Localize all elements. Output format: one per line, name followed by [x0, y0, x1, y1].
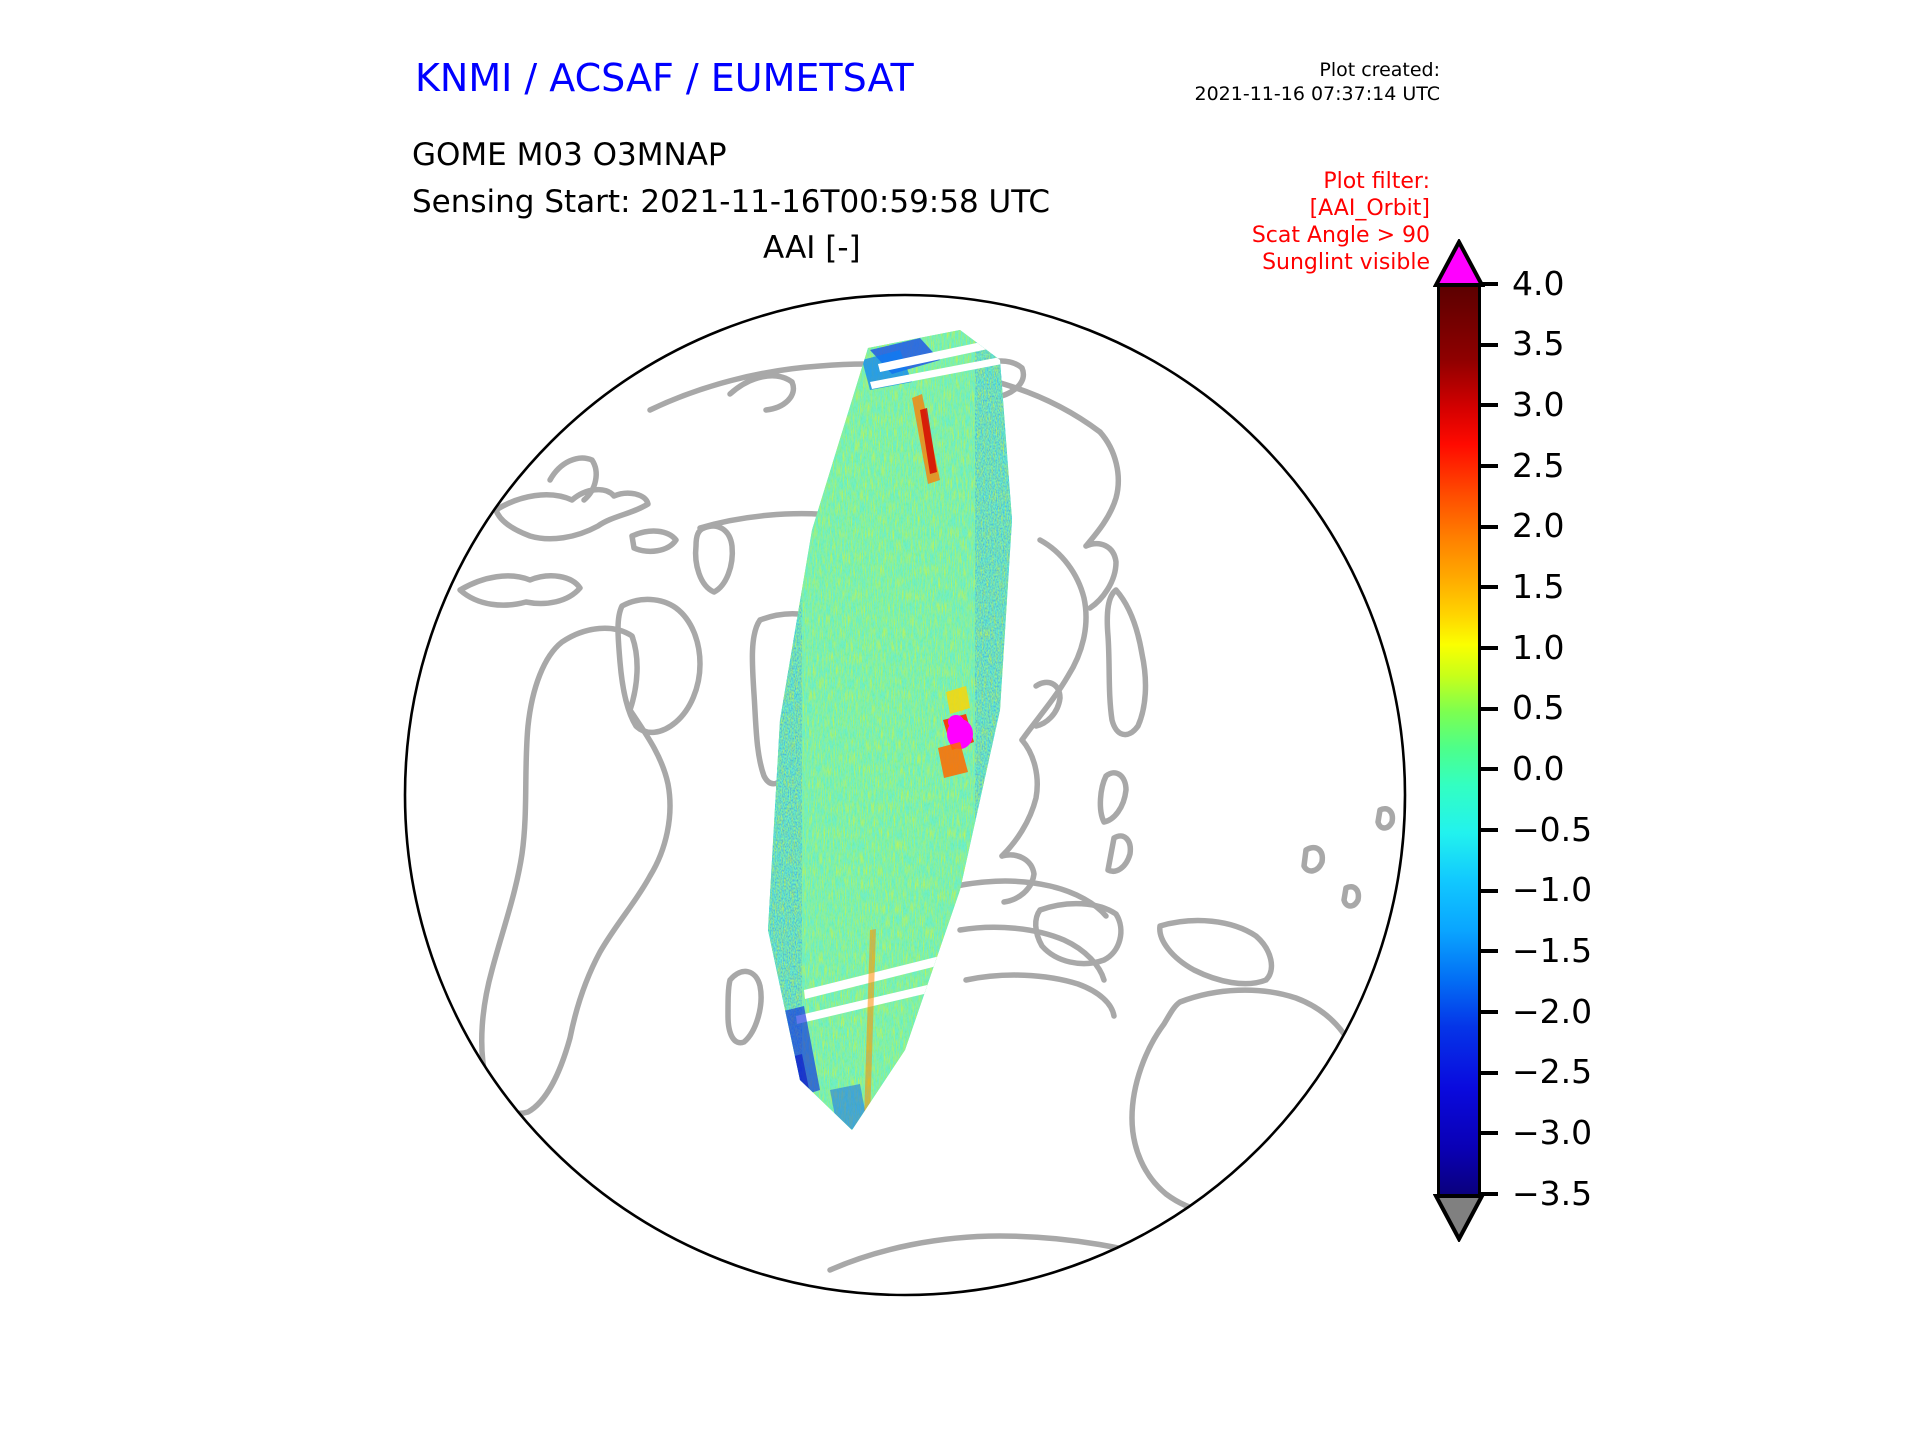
- tick-label: −1.0: [1512, 873, 1592, 906]
- tick-label: 4.0: [1512, 267, 1564, 300]
- colorbar-tick-list: 4.0 3.5 3.0 2.5 2.0 1.5 1.0 0.5: [1481, 284, 1761, 1194]
- tick-label: −1.5: [1512, 934, 1592, 967]
- tick-label: 2.5: [1512, 449, 1564, 482]
- tick-mark: [1481, 1131, 1498, 1135]
- colorbar-over-arrow: [1433, 239, 1485, 289]
- tick-mark: [1481, 707, 1498, 711]
- plot-filter-line-2: Scat Angle > 90: [1130, 222, 1430, 249]
- tick-label: 3.0: [1512, 388, 1564, 421]
- plot-created-label: Plot created:: [1100, 58, 1440, 82]
- page-title: AAI [-]: [763, 230, 861, 266]
- map-plot-area: [400, 290, 1410, 1300]
- tick-mark: [1481, 1071, 1498, 1075]
- tick-label: −0.5: [1512, 813, 1592, 846]
- tick-label: −2.0: [1512, 995, 1592, 1028]
- tick-mark: [1481, 282, 1498, 286]
- tick-mark: [1481, 343, 1498, 347]
- tick-mark: [1481, 525, 1498, 529]
- tick-mark: [1481, 767, 1498, 771]
- tick-mark: [1481, 646, 1498, 650]
- tick-mark: [1481, 1192, 1498, 1196]
- tick-label: 1.5: [1512, 570, 1564, 603]
- plot-filter-block: Plot filter: [AAI_Orbit] Scat Angle > 90…: [1130, 168, 1430, 276]
- tick-mark: [1481, 828, 1498, 832]
- plot-created-block: Plot created: 2021-11-16 07:37:14 UTC: [1100, 58, 1440, 106]
- tick-label: −2.5: [1512, 1055, 1592, 1088]
- plot-filter-line-1: [AAI_Orbit]: [1130, 195, 1430, 222]
- tick-label: 2.0: [1512, 509, 1564, 542]
- colorbar[interactable]: 4.0 3.5 3.0 2.5 2.0 1.5 1.0 0.5: [1437, 240, 1767, 1300]
- tick-mark: [1481, 1010, 1498, 1014]
- tick-label: 3.5: [1512, 327, 1564, 360]
- colorbar-gradient-fill: [1440, 287, 1478, 1197]
- tick-label: 0.5: [1512, 691, 1564, 724]
- orthographic-globe: [400, 290, 1410, 1300]
- tick-label: 1.0: [1512, 631, 1564, 664]
- tick-mark: [1481, 403, 1498, 407]
- colorbar-under-arrow: [1433, 1192, 1485, 1242]
- plot-filter-line-3: Sunglint visible: [1130, 249, 1430, 276]
- colorbar-gradient-bar[interactable]: [1437, 284, 1481, 1200]
- organization-title: KNMI / ACSAF / EUMETSAT: [415, 56, 914, 100]
- tick-mark: [1481, 585, 1498, 589]
- tick-label: 0.0: [1512, 752, 1564, 785]
- tick-mark: [1481, 889, 1498, 893]
- tick-mark: [1481, 949, 1498, 953]
- tick-label: −3.0: [1512, 1116, 1592, 1149]
- tick-mark: [1481, 464, 1498, 468]
- plot-filter-line-0: Plot filter:: [1130, 168, 1430, 195]
- sensing-start-text: Sensing Start: 2021-11-16T00:59:58 UTC: [412, 184, 1050, 220]
- tick-label: −3.5: [1512, 1177, 1592, 1210]
- plot-created-timestamp: 2021-11-16 07:37:14 UTC: [1100, 82, 1440, 106]
- product-title: GOME M03 O3MNAP: [412, 137, 727, 173]
